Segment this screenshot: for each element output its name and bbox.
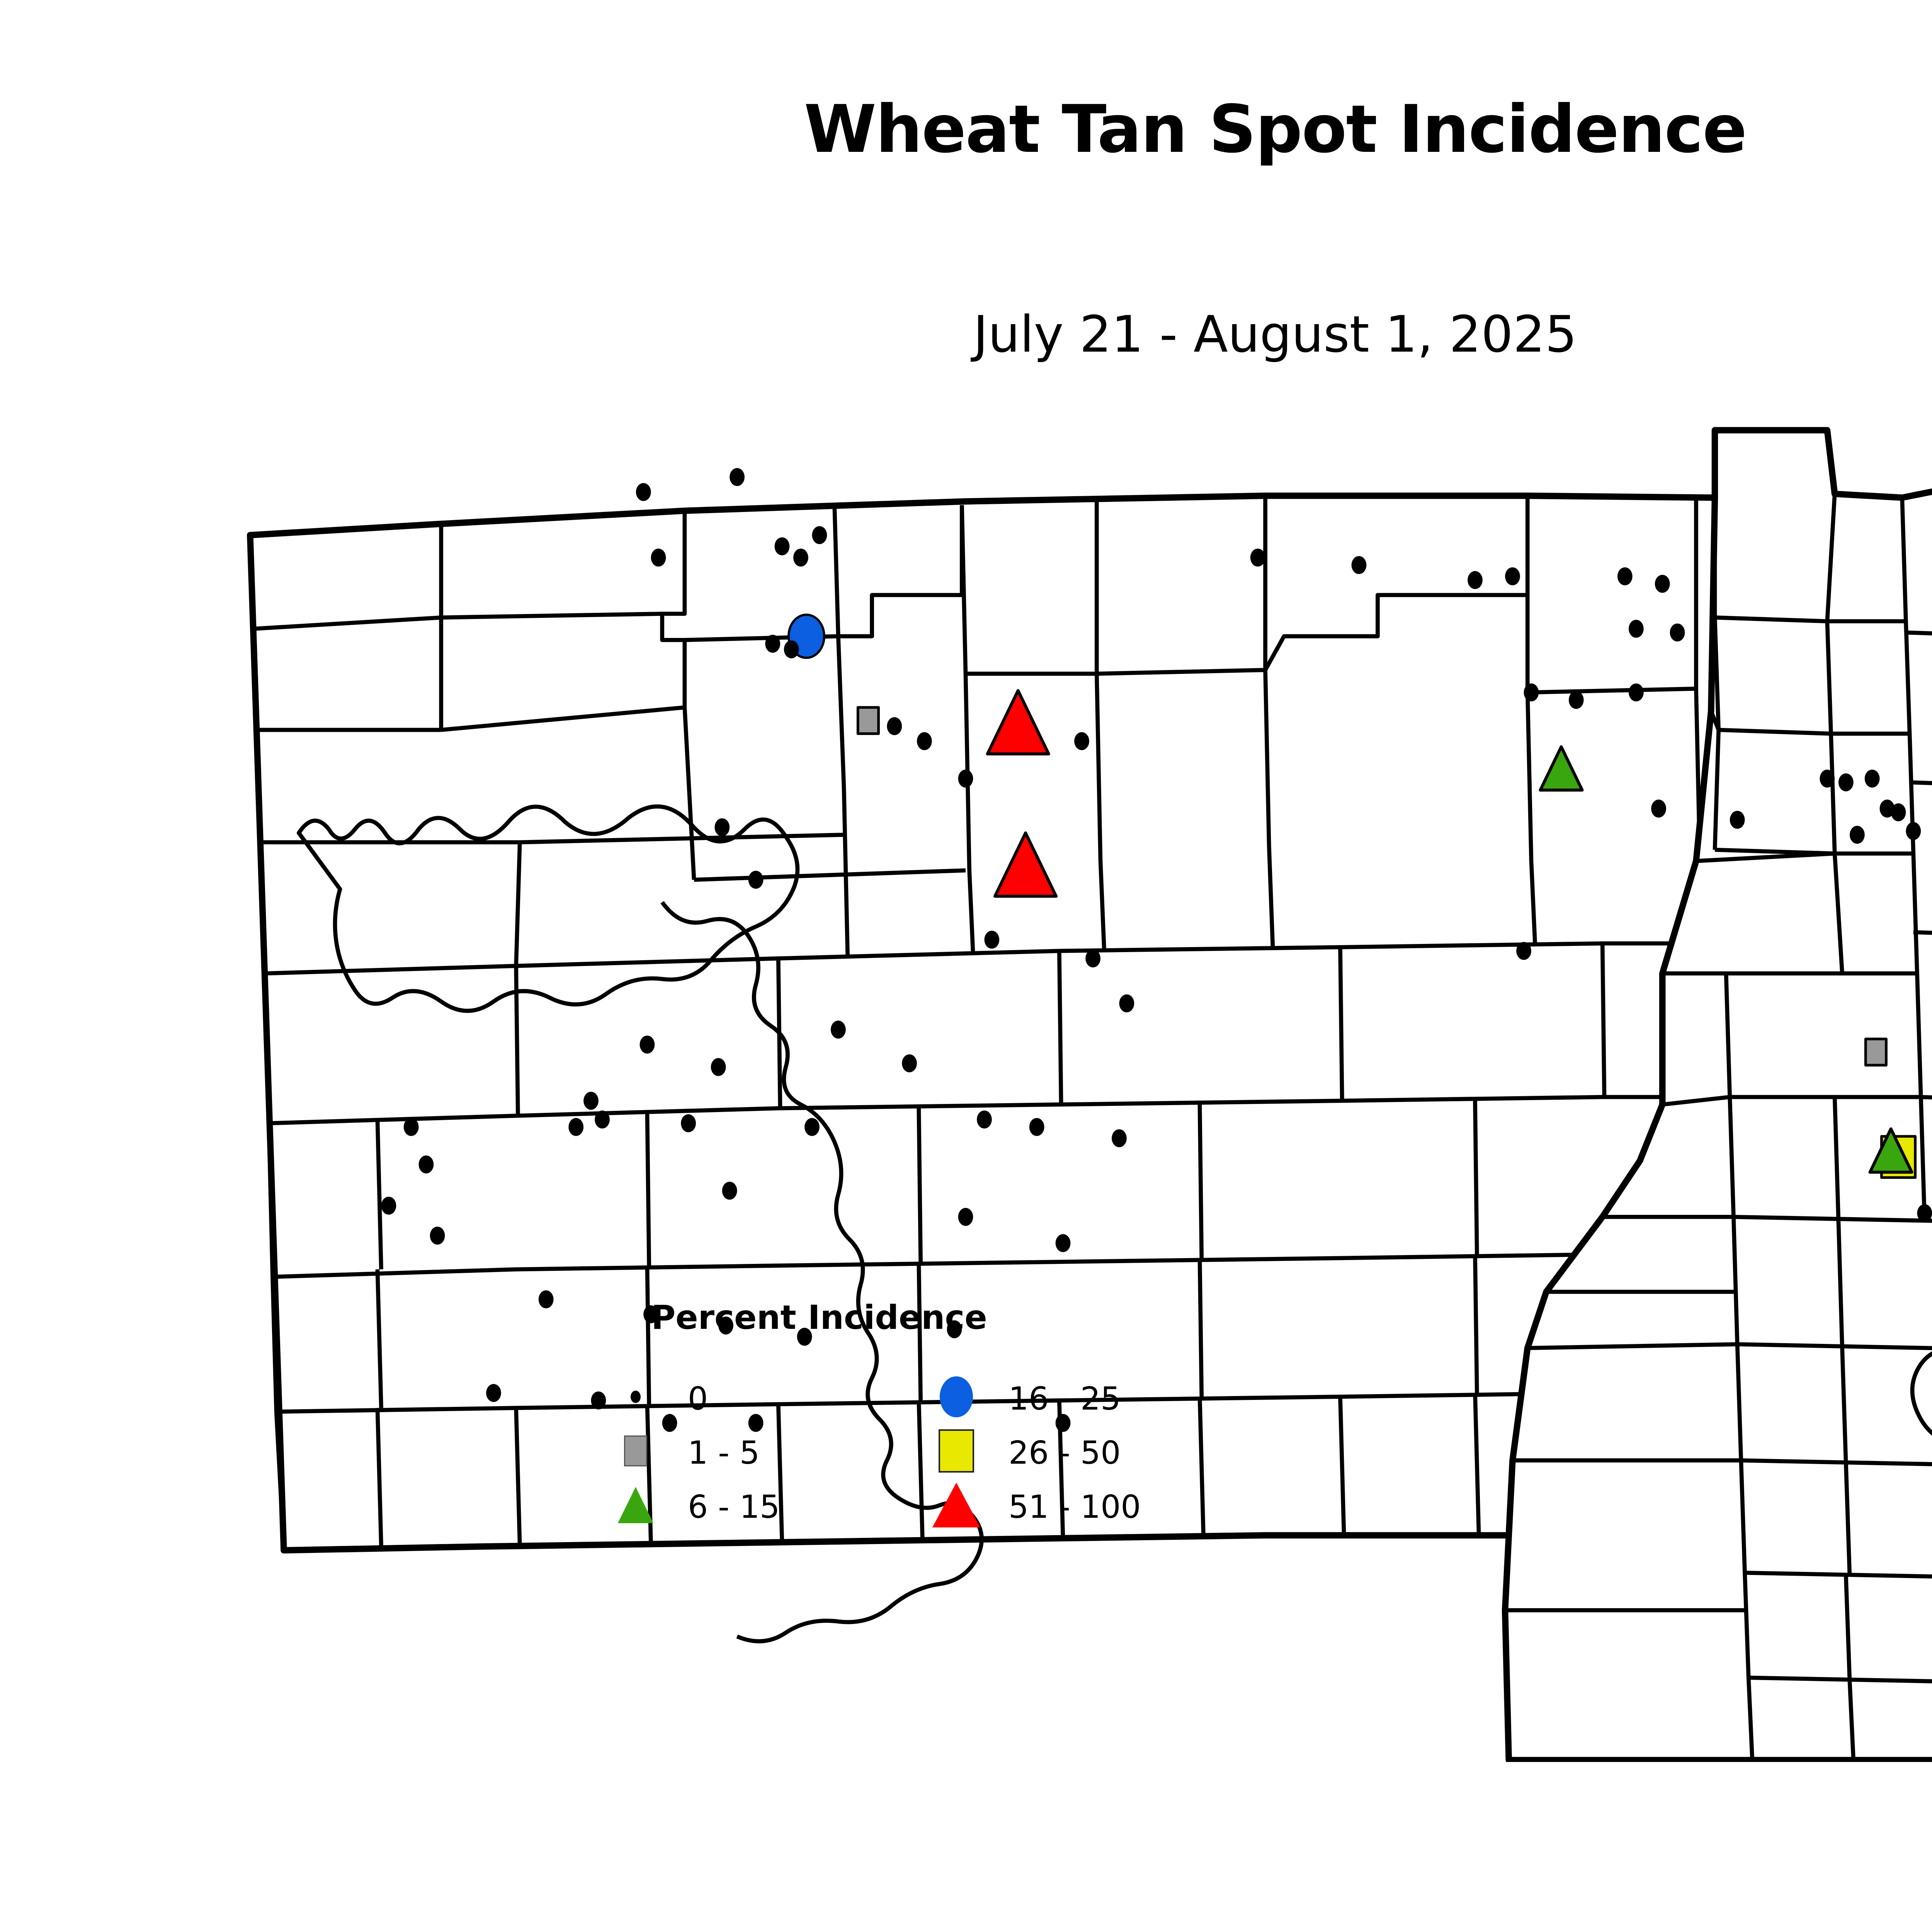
- map-point-marker[interactable]: [1516, 942, 1531, 960]
- map-point-marker[interactable]: [1891, 803, 1906, 821]
- map-point-marker[interactable]: [1056, 1234, 1071, 1252]
- legend-label-3: 16 - 25: [1009, 1378, 1121, 1420]
- legend-title: Percent Incidence: [607, 1298, 1032, 1337]
- red-triangle-icon: [935, 1484, 978, 1526]
- yellow-square-icon: [935, 1430, 978, 1472]
- map-point-marker[interactable]: [583, 1092, 599, 1110]
- legend-label-2: 6 - 15: [688, 1486, 780, 1529]
- gray-square-icon: [614, 1430, 657, 1472]
- map-point-marker[interactable]: [1838, 773, 1854, 791]
- map-point-marker[interactable]: [858, 707, 878, 734]
- map-point-marker[interactable]: [711, 1058, 726, 1076]
- map-point-marker[interactable]: [1112, 1129, 1127, 1147]
- map-point-marker[interactable]: [1629, 620, 1644, 638]
- map-point-marker[interactable]: [775, 537, 790, 556]
- map-legend: Percent Incidence 0 1 - 5 6 - 15 16 - 25: [607, 1298, 1264, 1569]
- map-point-marker[interactable]: [419, 1155, 434, 1173]
- map-point-marker[interactable]: [381, 1197, 396, 1215]
- map-point-marker[interactable]: [793, 549, 808, 567]
- map-point-marker[interactable]: [404, 1118, 419, 1136]
- map-point-marker[interactable]: [640, 1036, 655, 1054]
- map-point-marker[interactable]: [730, 468, 745, 486]
- map-point-marker[interactable]: [1850, 826, 1865, 844]
- map-point-marker[interactable]: [1917, 1204, 1932, 1222]
- map-point-marker[interactable]: [1085, 949, 1100, 968]
- map-point-marker[interactable]: [784, 640, 799, 658]
- map-point-marker[interactable]: [1524, 684, 1539, 702]
- map-point-marker[interactable]: [804, 1118, 820, 1136]
- page-subtitle: July 21 - August 1, 2025: [0, 309, 1932, 359]
- map-point-marker[interactable]: [984, 931, 999, 949]
- map-point-marker[interactable]: [651, 549, 666, 567]
- map-point-marker[interactable]: [1730, 811, 1745, 829]
- map-point-marker[interactable]: [595, 1111, 610, 1129]
- map-point-marker[interactable]: [681, 1114, 696, 1133]
- map-point-marker[interactable]: [1119, 994, 1134, 1012]
- map-point-marker[interactable]: [722, 1182, 737, 1200]
- map-point-marker[interactable]: [1865, 770, 1880, 788]
- map-point-marker[interactable]: [1820, 770, 1835, 788]
- green-triangle-icon: [614, 1484, 657, 1526]
- page-title: Wheat Tan Spot Incidence: [0, 97, 1932, 162]
- small-black-dot-icon: [614, 1376, 657, 1418]
- legend-label-5: 51 - 100: [1009, 1486, 1141, 1529]
- blue-circle-icon: [935, 1376, 978, 1418]
- map-point-marker[interactable]: [1651, 799, 1666, 818]
- map-point-marker[interactable]: [1866, 1039, 1886, 1065]
- map-point-marker[interactable]: [486, 1384, 501, 1402]
- map-point-marker[interactable]: [1352, 556, 1367, 574]
- map-point-marker[interactable]: [902, 1054, 917, 1073]
- map-point-marker[interactable]: [748, 871, 764, 889]
- legend-label-1: 1 - 5: [688, 1432, 760, 1475]
- map-point-marker[interactable]: [1906, 822, 1921, 840]
- map-point-marker[interactable]: [958, 1208, 973, 1226]
- map-point-marker[interactable]: [1670, 624, 1685, 642]
- map-point-marker[interactable]: [591, 1391, 606, 1410]
- map-point-marker[interactable]: [1569, 691, 1584, 709]
- map-point-marker[interactable]: [1468, 571, 1483, 589]
- map-point-marker[interactable]: [831, 1020, 846, 1039]
- map-point-marker[interactable]: [1029, 1118, 1044, 1136]
- map-point-marker[interactable]: [636, 483, 651, 501]
- map-point-marker[interactable]: [1629, 684, 1644, 702]
- map-point-marker[interactable]: [958, 770, 973, 788]
- map-point-marker[interactable]: [977, 1111, 992, 1129]
- map-point-marker[interactable]: [1617, 567, 1633, 585]
- map-point-marker[interactable]: [539, 1290, 554, 1308]
- map-point-marker[interactable]: [1505, 567, 1520, 585]
- map-point-marker[interactable]: [1074, 732, 1089, 750]
- map-point-marker[interactable]: [812, 526, 827, 544]
- legend-label-4: 26 - 50: [1009, 1432, 1121, 1475]
- map-point-marker[interactable]: [568, 1118, 583, 1136]
- legend-label-0: 0: [688, 1378, 708, 1420]
- map-point-marker[interactable]: [430, 1227, 445, 1245]
- map-point-marker[interactable]: [714, 818, 730, 837]
- map-point-marker[interactable]: [1655, 575, 1670, 593]
- map-page: Wheat Tan Spot Incidence July 21 - Augus…: [0, 0, 1932, 1932]
- map-point-marker[interactable]: [917, 732, 932, 750]
- map-point-marker[interactable]: [1250, 549, 1265, 567]
- map-point-marker[interactable]: [887, 717, 902, 735]
- map-point-marker[interactable]: [765, 635, 780, 653]
